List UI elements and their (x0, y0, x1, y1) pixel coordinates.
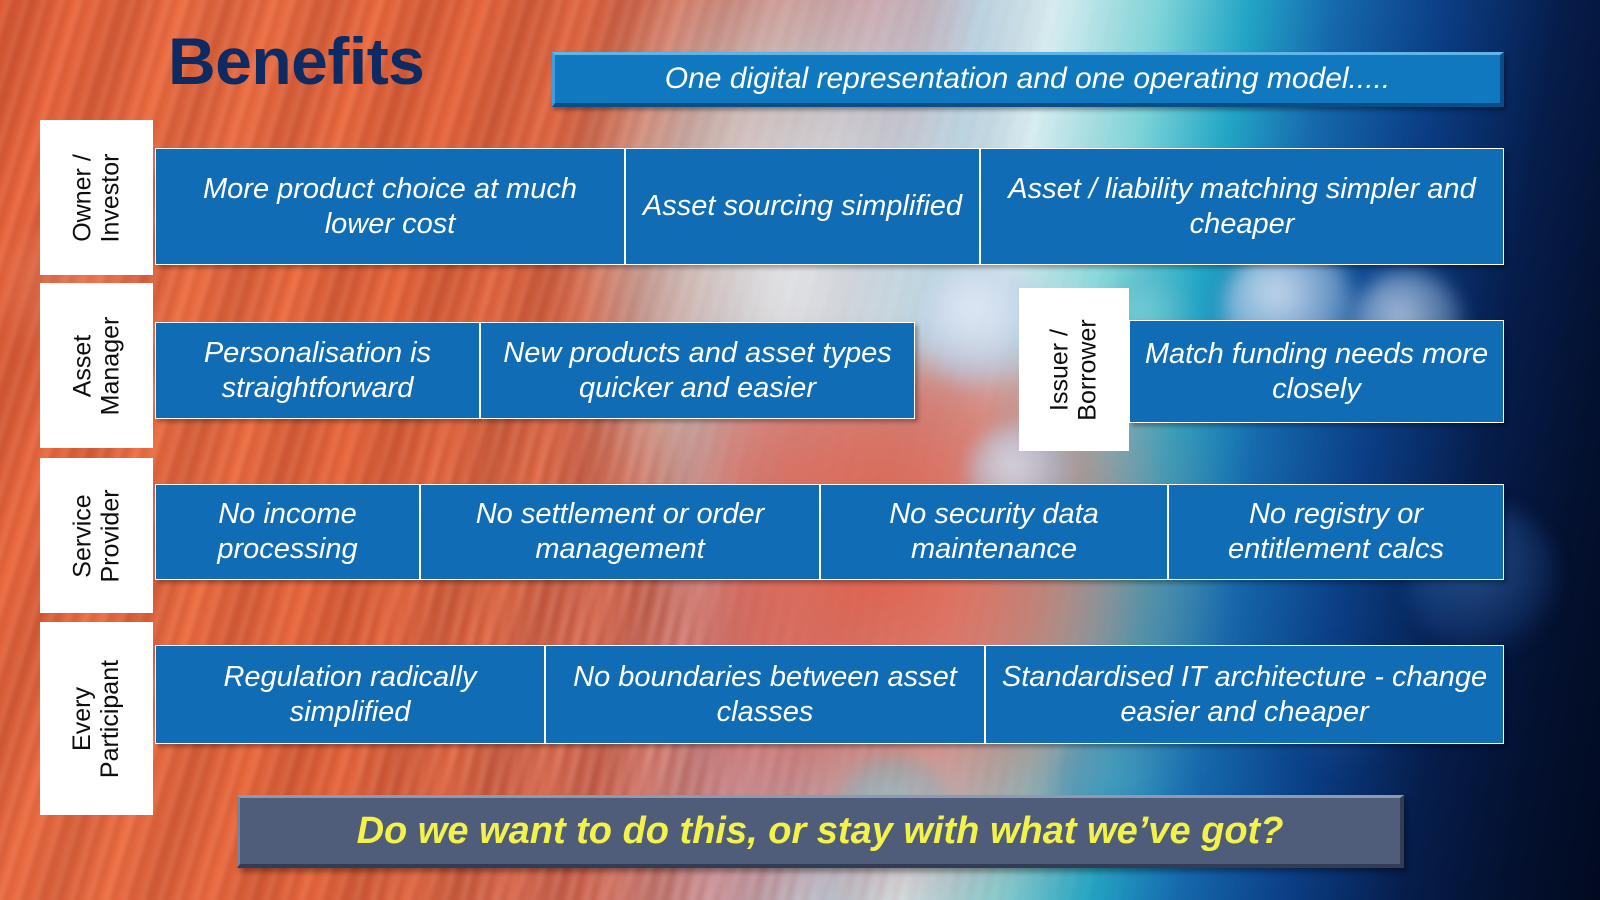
benefit-cell[interactable]: Asset / liability matching simpler and c… (980, 148, 1504, 265)
benefit-cell[interactable]: New products and asset types quicker and… (480, 322, 915, 419)
benefit-cell[interactable]: Standardised IT architecture - change ea… (985, 645, 1504, 744)
benefit-cell[interactable]: No settlement or order management (420, 484, 820, 580)
slide-canvas: Benefits One digital representation and … (0, 0, 1600, 900)
benefit-cell[interactable]: More product choice at much lower cost (155, 148, 625, 265)
top-banner: One digital representation and one opera… (552, 52, 1504, 107)
row-label-asset-manager: Asset Manager (40, 283, 153, 448)
bottom-banner: Do we want to do this, or stay with what… (237, 795, 1404, 868)
row-label-every-participant: Every Participant (40, 622, 153, 815)
row-label-line1: Service (69, 489, 97, 582)
row-label-line2: Borrower (1074, 319, 1102, 420)
benefit-cell[interactable]: No security data maintenance (820, 484, 1168, 580)
benefit-cell[interactable]: No income processing (155, 484, 420, 580)
row-label-issuer-borrower: Issuer / Borrower (1019, 288, 1129, 451)
row-label-line2: Manager (96, 316, 124, 415)
row-label-line1: Every (69, 659, 97, 777)
row-label-line2: Provider (97, 489, 125, 582)
benefit-cell[interactable]: Personalisation is straightforward (155, 322, 480, 419)
top-banner-text: One digital representation and one opera… (665, 62, 1390, 96)
slide-title: Benefits (168, 28, 424, 94)
row-label-line1: Issuer / (1046, 319, 1074, 420)
row-label-line2: Investor (97, 153, 125, 242)
benefit-cell[interactable]: Regulation radically simplified (155, 645, 545, 744)
benefit-cell[interactable]: No boundaries between asset classes (545, 645, 985, 744)
benefit-cell[interactable]: Asset sourcing simplified (625, 148, 980, 265)
row-label-service-provider: Service Provider (40, 458, 153, 613)
row-label-line1: Asset (68, 316, 96, 415)
row-label-line1: Owner / (69, 153, 97, 242)
benefit-cell[interactable]: No registry or entitlement calcs (1168, 484, 1504, 580)
row-label-line2: Participant (97, 659, 125, 777)
benefit-cell[interactable]: Match funding needs more closely (1129, 320, 1504, 423)
bottom-banner-text: Do we want to do this, or stay with what… (357, 810, 1284, 853)
row-label-owner-investor: Owner / Investor (40, 120, 153, 275)
